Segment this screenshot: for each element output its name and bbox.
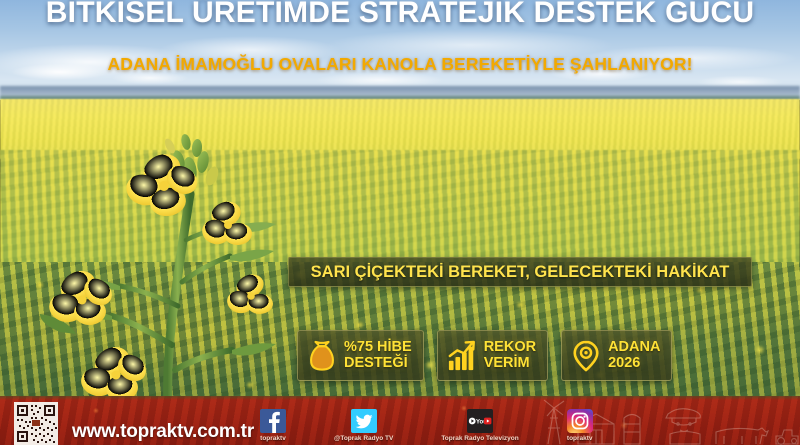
instagram-label: topraktv	[567, 435, 593, 442]
website-url[interactable]: www.topraktv.com.tr	[72, 421, 254, 443]
slogan-text: SARI ÇİÇEKTEKİ BEREKET, GELECEKTEKİ HAKİ…	[311, 263, 730, 282]
page-subtitle: ADANA İMAMOĞLU OVALARI KANOLA BEREKETİYL…	[0, 54, 800, 75]
twitter-icon	[351, 409, 377, 433]
canola-plant-foreground	[40, 110, 300, 410]
poster-canvas: BİTKİSEL ÜRETİMDE STRATEJİK DESTEK GÜCÜ …	[0, 0, 800, 445]
badge-adana-line2: 2026	[608, 356, 660, 372]
social-twitter[interactable]: @Toprak Radyo TV	[334, 409, 393, 442]
badge-adana-label: ADANA 2026	[608, 340, 660, 371]
social-facebook[interactable]: topraktv	[260, 409, 286, 442]
flower-4	[199, 198, 253, 248]
facebook-icon	[260, 409, 286, 433]
slogan-banner: SARI ÇİÇEKTEKİ BEREKET, GELECEKTEKİ HAKİ…	[288, 257, 752, 287]
badge-hibe-line1: %75 HİBE	[344, 340, 412, 356]
badge-rekor-line1: REKOR	[484, 340, 536, 356]
badge-hibe-label: %75 HİBE DESTEĞİ	[344, 340, 412, 371]
instagram-icon	[567, 409, 593, 433]
badge-hibe-destegi[interactable]: %75 HİBE DESTEĞİ	[297, 330, 424, 381]
social-links: topraktv @Toprak Radyo TV You Toprak Rad…	[260, 409, 593, 442]
social-instagram[interactable]: topraktv	[567, 409, 593, 442]
feature-badges: %75 HİBE DESTEĞİ REKOR VERİM	[297, 330, 672, 381]
growth-chart-icon	[447, 340, 477, 372]
page-title: BİTKİSEL ÜRETİMDE STRATEJİK DESTEK GÜCÜ	[0, 0, 800, 30]
social-youtube[interactable]: You Toprak Radyo Televizyon	[441, 409, 518, 442]
youtube-label: Toprak Radyo Televizyon	[441, 435, 518, 442]
flower-5	[224, 270, 273, 316]
twitter-label: @Toprak Radyo TV	[334, 435, 393, 442]
badge-adana-line1: ADANA	[608, 340, 660, 356]
badge-rekor-verim[interactable]: REKOR VERİM	[437, 330, 548, 381]
badge-hibe-line2: DESTEĞİ	[344, 356, 412, 372]
facebook-label: topraktv	[260, 435, 286, 442]
youtube-icon: You	[467, 409, 493, 433]
money-bag-icon	[307, 340, 337, 372]
badge-rekor-line2: VERİM	[484, 356, 536, 372]
badge-adana-2026[interactable]: ADANA 2026	[561, 330, 672, 381]
flower-3	[78, 341, 151, 402]
badge-rekor-label: REKOR VERİM	[484, 340, 536, 371]
qr-code[interactable]	[14, 402, 58, 445]
map-pin-icon	[571, 340, 601, 372]
